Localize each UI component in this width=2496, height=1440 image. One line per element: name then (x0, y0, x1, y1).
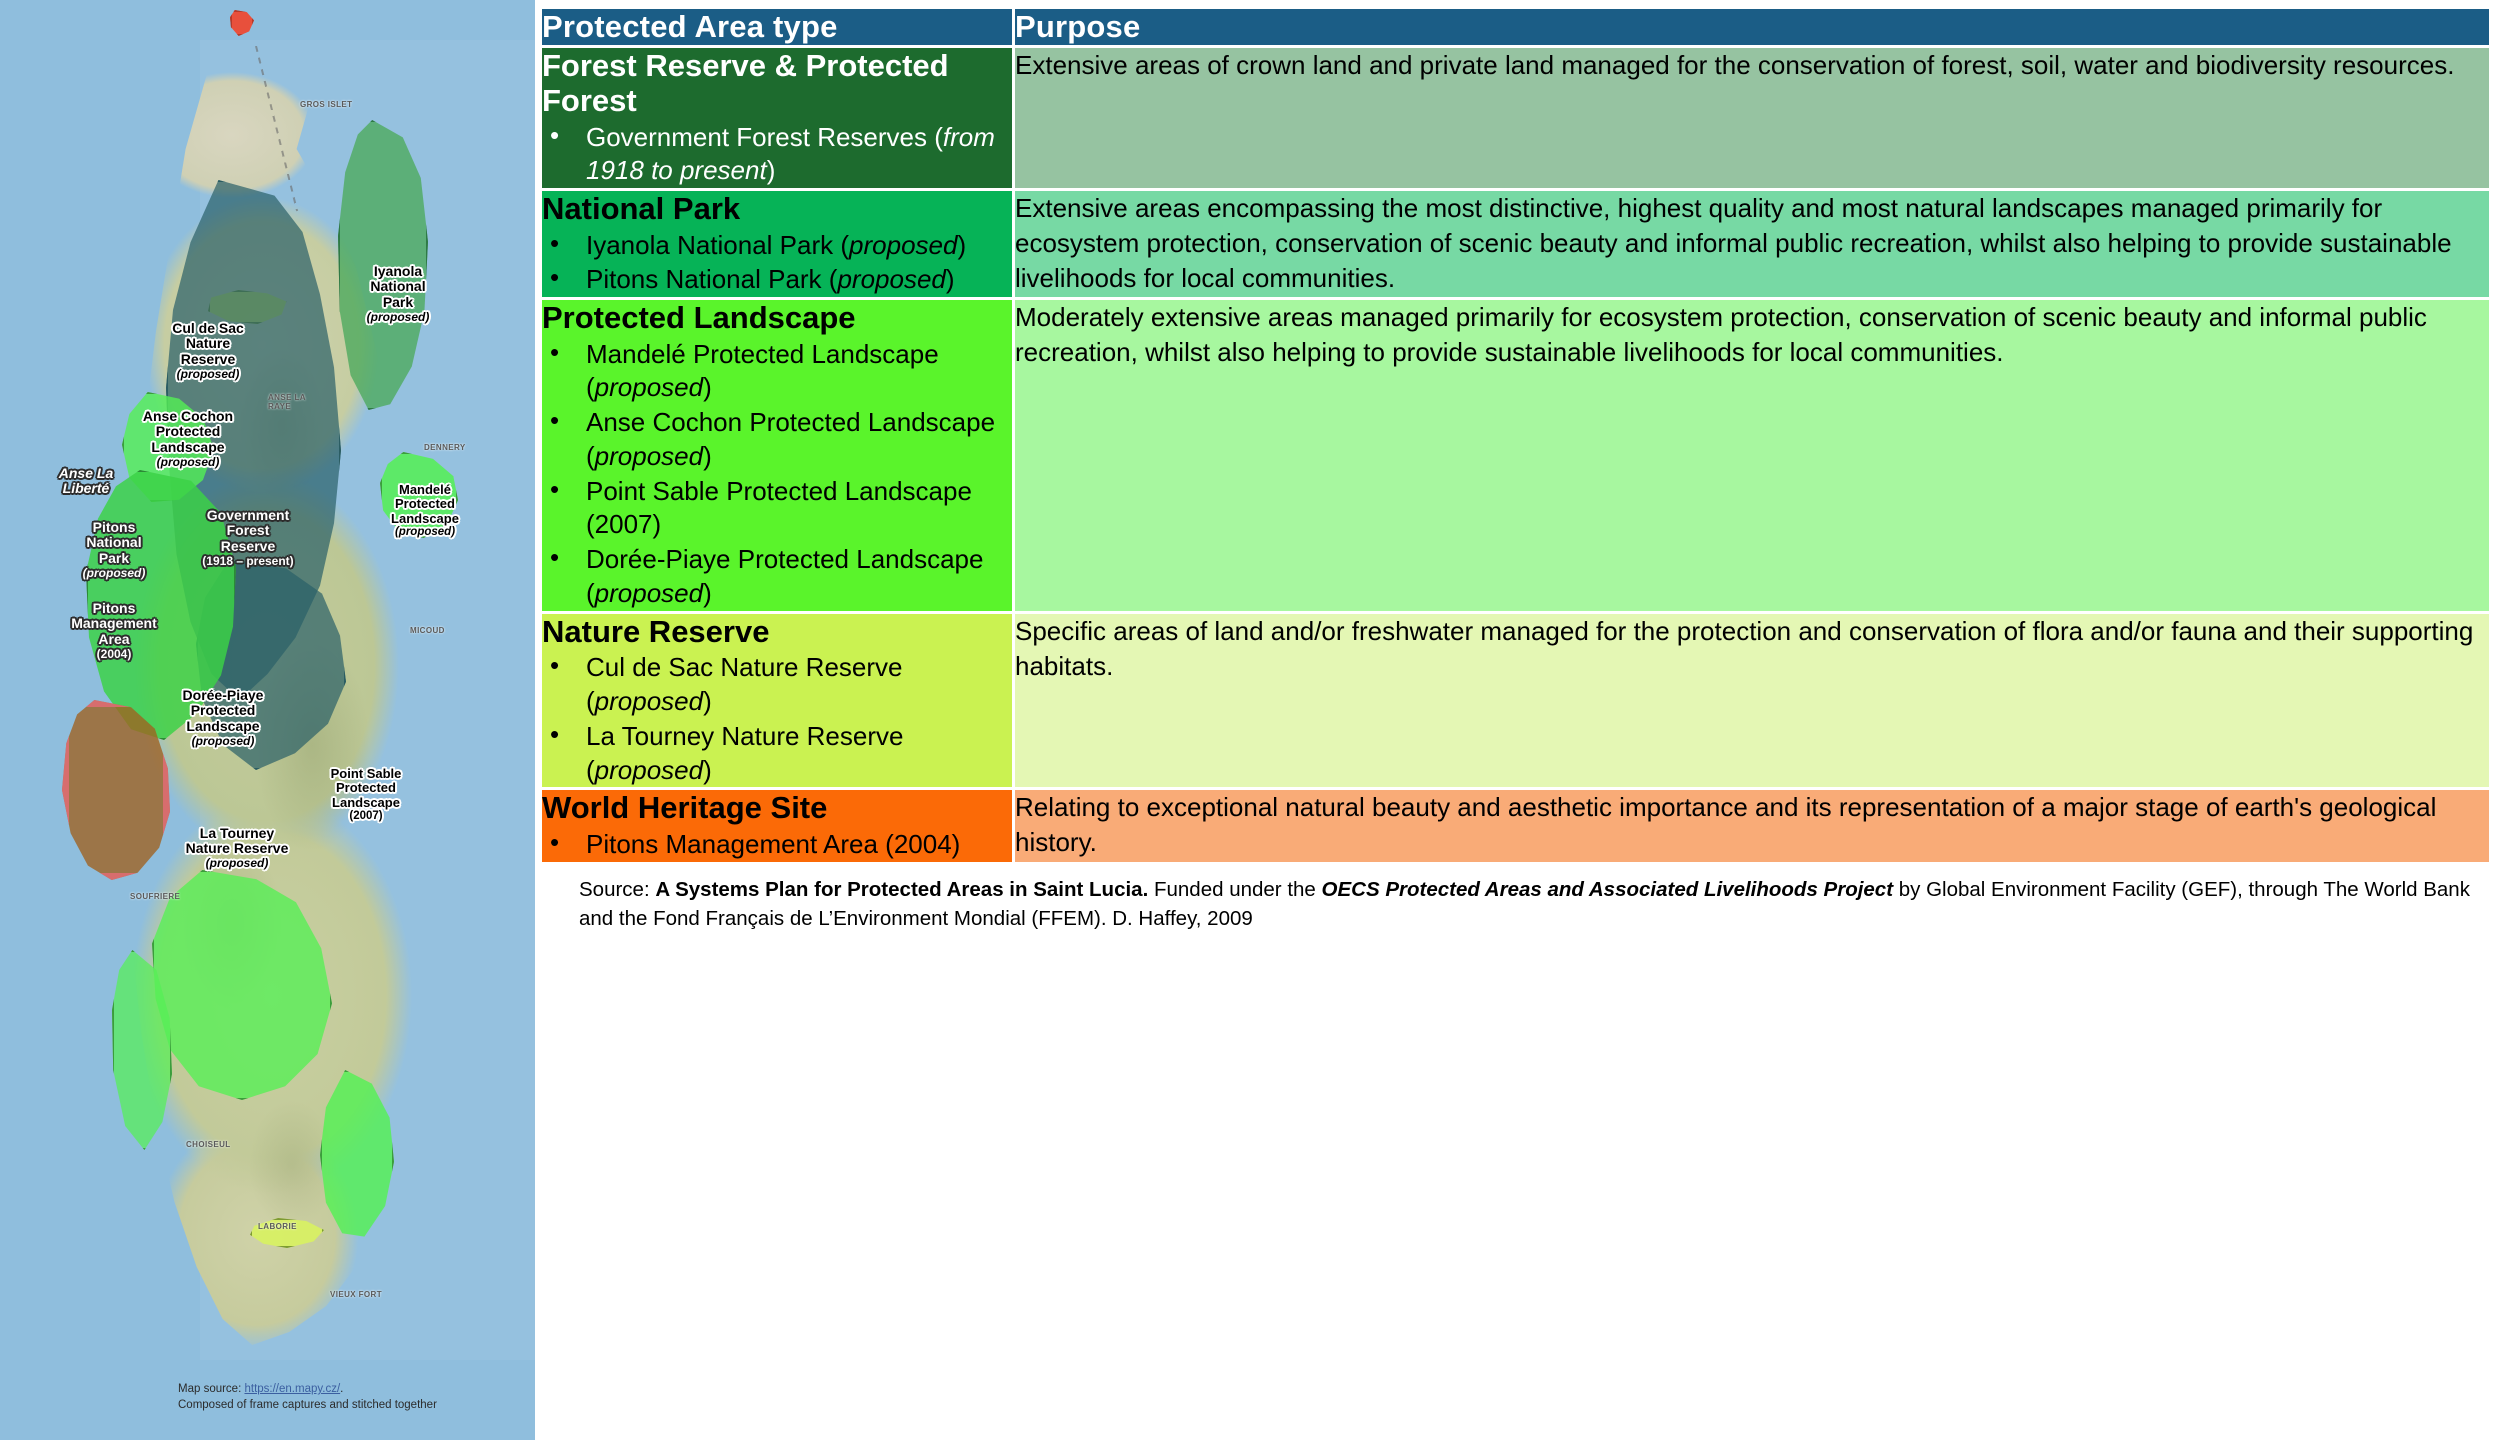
cell-purpose-national-park: Extensive areas encompassing the most di… (1015, 191, 2489, 297)
town-gros-islet: GROS ISLET (300, 100, 352, 109)
example-tail: ) (703, 441, 712, 471)
example-emphasis: proposed (595, 441, 703, 471)
area-type-title: Protected Landscape (542, 300, 1012, 335)
cell-purpose-nature-reserve: Specific areas of land and/or freshwater… (1015, 614, 2489, 788)
map-source-line1: Map source: https://en.mapy.cz/. (178, 1382, 437, 1398)
map-panel: GROS ISLET ANSE LARAYE SOUFRIERE DENNERY… (0, 0, 535, 1440)
area-type-examples: Government Forest Reserves (from 1918 to… (542, 121, 1012, 189)
area-type-title: Forest Reserve & Protected Forest (542, 48, 1012, 119)
example-emphasis: proposed (595, 578, 703, 608)
example-text: Pitons National Park ( (586, 264, 837, 294)
example-tail: ) (957, 230, 966, 260)
cell-area-type-national-park: National ParkIyanola National Park (prop… (542, 191, 1012, 297)
map-source-label: Map source: (178, 1383, 241, 1395)
example-emphasis: proposed (837, 264, 945, 294)
area-type-example-item: Mandelé Protected Landscape (proposed) (542, 338, 1012, 406)
protected-areas-table: Protected Area type Purpose Forest Reser… (539, 6, 2492, 865)
table-row: World Heritage SitePitons Management Are… (542, 790, 2489, 861)
area-type-example-item: Point Sable Protected Landscape (2007) (542, 475, 1012, 543)
footnote-mid: Funded under the (1148, 878, 1321, 901)
example-text: Pitons Management Area (2004) (586, 829, 960, 859)
slide-root: GROS ISLET ANSE LARAYE SOUFRIERE DENNERY… (0, 0, 2496, 1440)
footnote-project: OECS Protected Areas and Associated Live… (1322, 878, 1894, 901)
town-soufriere: SOUFRIERE (130, 892, 180, 901)
cell-purpose-forest-reserve: Extensive areas of crown land and privat… (1015, 48, 2489, 188)
source-footnote: Source: A Systems Plan for Protected Are… (539, 865, 2492, 940)
area-type-title: National Park (542, 191, 1012, 226)
cell-purpose-world-heritage-site: Relating to exceptional natural beauty a… (1015, 790, 2489, 861)
area-type-title: Nature Reserve (542, 614, 1012, 649)
cell-area-type-world-heritage-site: World Heritage SitePitons Management Are… (542, 790, 1012, 861)
example-tail: ) (946, 264, 955, 294)
town-vieux-fort: VIEUX FORT (330, 1290, 382, 1299)
header-protected-area-type: Protected Area type (542, 9, 1012, 45)
example-emphasis: proposed (595, 372, 703, 402)
area-type-example-item: La Tourney Nature Reserve (proposed) (542, 720, 1012, 788)
cell-area-type-forest-reserve: Forest Reserve & Protected ForestGovernm… (542, 48, 1012, 188)
footnote-title: A Systems Plan for Protected Areas in Sa… (655, 878, 1148, 901)
table-row: Nature ReserveCul de Sac Nature Reserve … (542, 614, 2489, 788)
example-tail: ) (703, 372, 712, 402)
town-choiseul: CHOISEUL (186, 1140, 231, 1149)
area-type-examples: Iyanola National Park (proposed)Pitons N… (542, 229, 1012, 298)
area-type-examples: Pitons Management Area (2004) (542, 828, 1012, 862)
example-tail: ) (703, 755, 712, 785)
cell-area-type-nature-reserve: Nature ReserveCul de Sac Nature Reserve … (542, 614, 1012, 788)
table-row: Forest Reserve & Protected ForestGovernm… (542, 48, 2489, 188)
example-tail: ) (703, 578, 712, 608)
example-text: Government Forest Reserves ( (586, 122, 943, 152)
map-source-line2: Composed of frame captures and stitched … (178, 1398, 437, 1414)
header-purpose: Purpose (1015, 9, 2489, 45)
town-micoud: MICOUD (410, 626, 445, 635)
example-emphasis: proposed (849, 230, 957, 260)
town-laborie: LABORIE (258, 1222, 297, 1231)
example-text: Iyanola National Park ( (586, 230, 849, 260)
table-body: Forest Reserve & Protected ForestGovernm… (542, 48, 2489, 862)
cell-area-type-protected-landscape: Protected LandscapeMandelé Protected Lan… (542, 300, 1012, 611)
area-type-example-item: Pitons National Park (proposed) (542, 263, 1012, 297)
table-area: Protected Area type Purpose Forest Reser… (535, 0, 2496, 1440)
area-type-example-item: Anse Cochon Protected Landscape (propose… (542, 406, 1012, 474)
example-emphasis: proposed (595, 686, 703, 716)
area-type-example-item: Dorée-Piaye Protected Landscape (propose… (542, 543, 1012, 611)
table-row: Protected LandscapeMandelé Protected Lan… (542, 300, 2489, 611)
area-type-examples: Mandelé Protected Landscape (proposed)An… (542, 338, 1012, 611)
cell-purpose-protected-landscape: Moderately extensive areas managed prima… (1015, 300, 2489, 611)
table-row: National ParkIyanola National Park (prop… (542, 191, 2489, 297)
area-type-examples: Cul de Sac Nature Reserve (proposed)La T… (542, 651, 1012, 787)
town-anse-la-raye: ANSE LARAYE (268, 393, 306, 411)
area-type-example-item: Iyanola National Park (proposed) (542, 229, 1012, 263)
area-type-title: World Heritage Site (542, 790, 1012, 825)
area-type-example-item: Pitons Management Area (2004) (542, 828, 1012, 862)
example-text: Point Sable Protected Landscape (2007) (586, 476, 972, 540)
area-type-example-item: Government Forest Reserves (from 1918 to… (542, 121, 1012, 189)
example-emphasis: proposed (595, 755, 703, 785)
example-tail: ) (703, 686, 712, 716)
footnote-lead: Source: (579, 878, 655, 901)
town-dennery: DENNERY (424, 443, 466, 452)
map-canvas: GROS ISLET ANSE LARAYE SOUFRIERE DENNERY… (0, 0, 535, 1440)
area-type-example-item: Cul de Sac Nature Reserve (proposed) (542, 651, 1012, 719)
table-header-row: Protected Area type Purpose (542, 9, 2489, 45)
map-source-note: Map source: https://en.mapy.cz/. Compose… (178, 1382, 437, 1413)
example-tail: ) (767, 155, 776, 185)
map-source-url[interactable]: https://en.mapy.cz/ (244, 1383, 340, 1395)
